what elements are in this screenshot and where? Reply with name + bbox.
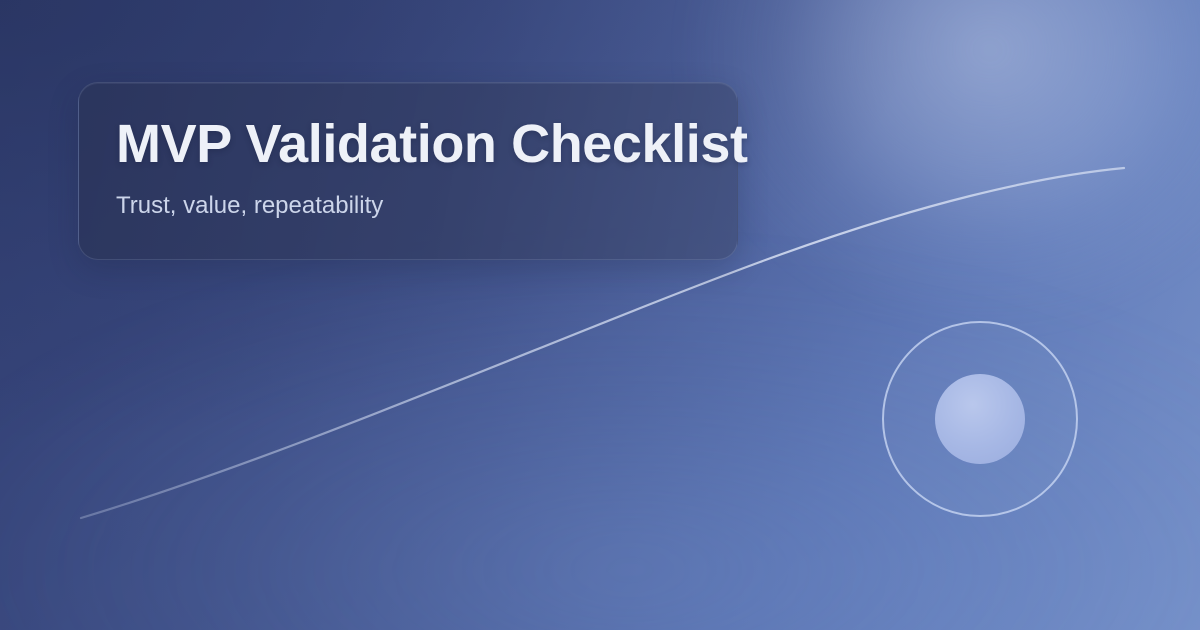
page-subtitle: Trust, value, repeatability xyxy=(116,191,701,221)
poster-canvas: MVP Validation Checklist Trust, value, r… xyxy=(0,0,1200,630)
page-title: MVP Validation Checklist xyxy=(116,114,701,174)
headline-card: MVP Validation Checklist Trust, value, r… xyxy=(78,82,738,260)
